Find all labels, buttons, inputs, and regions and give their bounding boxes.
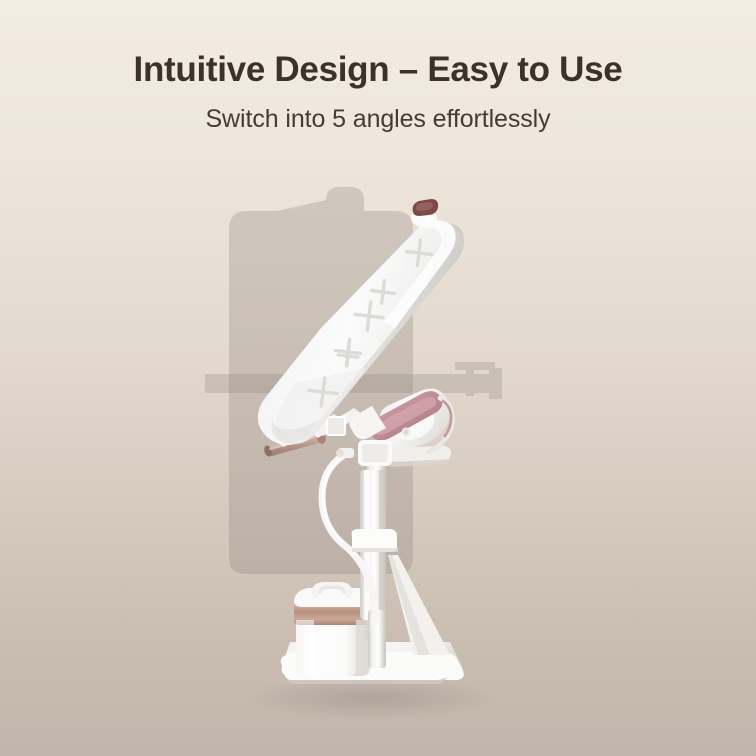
board-top-clip [411, 199, 438, 227]
hose-nozzle [336, 448, 354, 458]
product-illustration [0, 0, 756, 756]
hose-clip-collar [352, 529, 398, 552]
product-feature-card: Intuitive Design – Easy to Use Switch in… [0, 0, 756, 756]
